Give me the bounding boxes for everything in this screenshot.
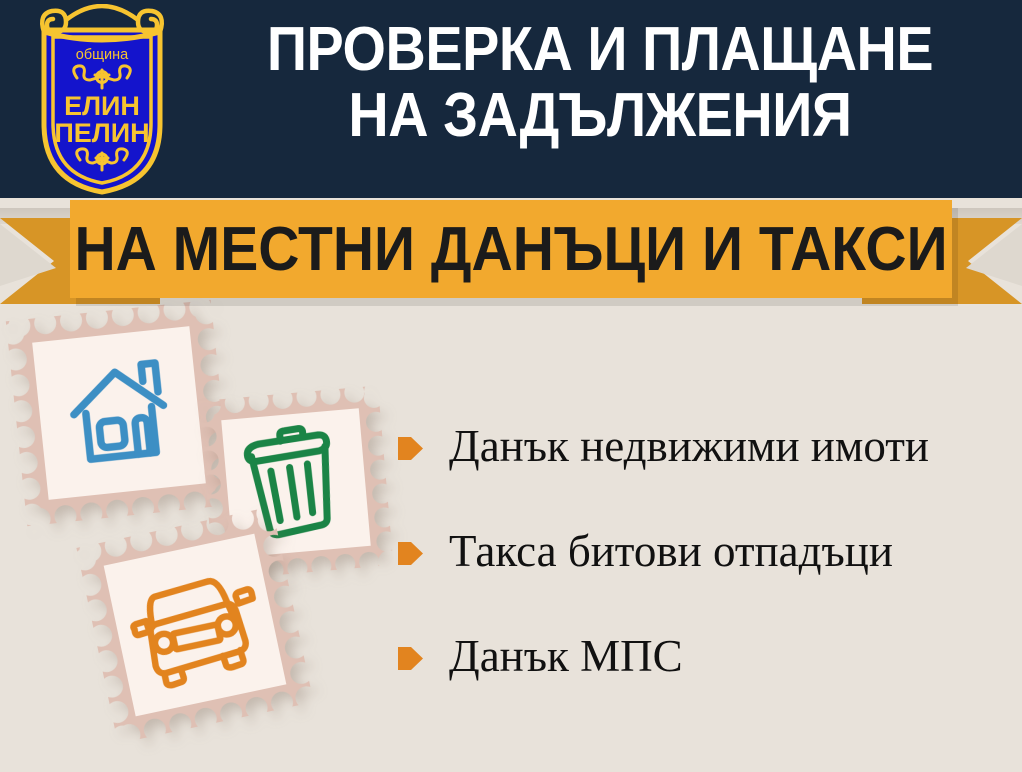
municipality-logo: община ЕЛИН ПЕЛИН [22,4,182,196]
logo-text-obshtina: община [76,47,129,63]
stamp-illustrations [0,300,420,772]
arrow-bullet-icon [398,540,423,567]
stamp-card-property [6,300,232,526]
list-item-label: Данък недвижими имоти [449,421,929,471]
list-item[interactable]: Такса битови отпадъци [398,525,1010,577]
list-item[interactable]: Данък недвижими имоти [398,420,1010,472]
stamp-card-vehicle [76,506,313,743]
logo-text-pelin: ПЕЛИН [54,118,149,148]
arrow-bullet-icon [398,435,423,462]
ribbon-label: НА МЕСТНИ ДАНЪЦИ И ТАКСИ [105,200,916,298]
logo-text-elin: ЕЛИН [64,91,140,121]
arrow-bullet-icon [398,645,423,672]
list-item-label: Данък МПС [449,631,683,681]
tax-types-list: Данък недвижими имоти Такса битови отпад… [398,420,1010,682]
list-item-label: Такса битови отпадъци [449,526,893,576]
page-title-line-2: НА ЗАДЪЛЖЕНИЯ [227,83,974,149]
list-item[interactable]: Данък МПС [398,630,1010,682]
page-title: ПРОВЕРКА И ПЛАЩАНЕ НА ЗАДЪЛЖЕНИЯ [227,17,974,149]
ribbon-banner: НА МЕСТНИ ДАНЪЦИ И ТАКСИ [0,200,1022,305]
page-title-line-1: ПРОВЕРКА И ПЛАЩАНЕ [267,15,933,84]
